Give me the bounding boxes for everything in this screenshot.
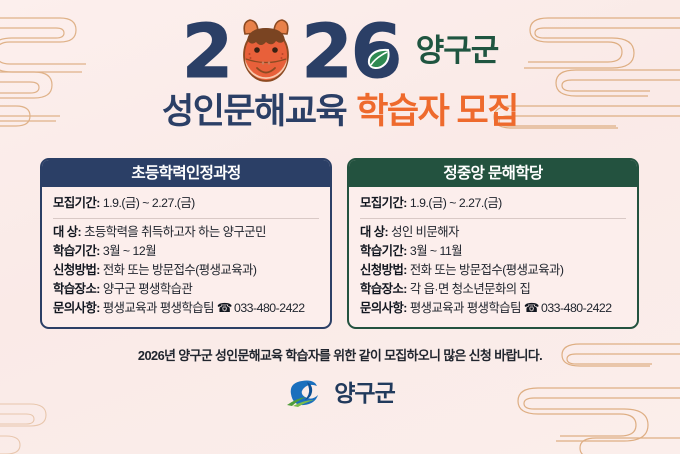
telephone-icon: ☎	[524, 299, 539, 318]
row-study-period: 학습기간: 3월 ~ 12월	[53, 242, 319, 261]
row-application-method: 신청방법: 전화 또는 방문접수(평생교육과)	[360, 261, 626, 280]
row-label: 학습장소:	[53, 280, 100, 299]
row-value: 1.9.(금) ~ 2.27.(금)	[410, 194, 502, 213]
row-target-audience: 대 상: 초등학력을 취득하고자 하는 양구군민	[53, 223, 319, 242]
yanggu-county-emblem-icon	[285, 378, 329, 408]
poster-canvas: 2	[0, 0, 680, 454]
row-inquiry: 문의사항: 평생교육과 평생학습팀 ☎ 033-480-2422	[53, 299, 319, 318]
row-recruitment-period: 모집기간: 1.9.(금) ~ 2.27.(금)	[53, 194, 319, 216]
row-value: 양구군 평생학습관	[103, 280, 192, 299]
leaf-icon	[367, 48, 391, 70]
title-accent-text: 학습자 모집	[356, 92, 518, 131]
year-digit-6-wrapper: 6	[351, 16, 407, 88]
row-study-location: 학습장소: 각 읍·면 청소년문화의 집	[360, 280, 626, 299]
telephone-icon: ☎	[217, 299, 232, 318]
row-label: 대 상:	[360, 223, 388, 242]
row-label: 문의사항:	[53, 299, 100, 318]
row-application-method: 신청방법: 전화 또는 방문접수(평생교육과)	[53, 261, 319, 280]
panel-divider	[360, 218, 626, 219]
row-label: 학습기간:	[53, 242, 100, 261]
row-value: 전화 또는 방문접수(평생교육과)	[410, 261, 564, 280]
panel-elementary-course: 초등학력인정과정 모집기간: 1.9.(금) ~ 2.27.(금) 대 상: 초…	[40, 158, 332, 329]
row-label: 학습기간:	[360, 242, 407, 261]
row-value: 초등학력을 취득하고자 하는 양구군민	[84, 223, 266, 242]
row-label: 신청방법:	[53, 261, 100, 280]
row-phone-number: 033-480-2422	[541, 299, 612, 318]
row-value: 3월 ~ 11월	[410, 242, 462, 261]
row-inquiry: 문의사항: 평생교육과 평생학습팀 ☎ 033-480-2422	[360, 299, 626, 318]
program-panels: 초등학력인정과정 모집기간: 1.9.(금) ~ 2.27.(금) 대 상: 초…	[40, 158, 640, 329]
row-phone-number: 033-480-2422	[234, 299, 305, 318]
panel-body-literacy-school: 모집기간: 1.9.(금) ~ 2.27.(금) 대 상: 성인 비문해자 학습…	[349, 187, 637, 327]
poster-title: 성인문해교육학습자 모집	[0, 92, 680, 132]
yanggu-county-logo: 양구군	[0, 378, 680, 408]
row-label: 신청방법:	[360, 261, 407, 280]
panel-literacy-school: 정중앙 문해학당 모집기간: 1.9.(금) ~ 2.27.(금) 대 상: 성…	[347, 158, 639, 329]
panel-header-literacy-school: 정중앙 문해학당	[349, 160, 637, 187]
panel-header-elementary-course: 초등학력인정과정	[42, 160, 330, 187]
row-value: 3월 ~ 12월	[103, 242, 156, 261]
row-value: 성인 비문해자	[391, 223, 459, 242]
row-recruitment-period: 모집기간: 1.9.(금) ~ 2.27.(금)	[360, 194, 626, 216]
row-study-period: 학습기간: 3월 ~ 11월	[360, 242, 626, 261]
year-digit-2-second: 2	[301, 15, 351, 89]
row-target-audience: 대 상: 성인 비문해자	[360, 223, 626, 242]
horse-mascot-icon	[235, 18, 297, 86]
year-digit-2-first: 2	[182, 15, 232, 89]
footer-note: 2026년 양구군 성인문해교육 학습자를 위한 같이 모집하오니 많은 신청 …	[0, 345, 680, 364]
row-label: 대 상:	[53, 223, 81, 242]
row-value: 평생교육과 평생학습팀	[103, 299, 214, 318]
panel-divider	[53, 218, 319, 219]
title-main-text: 성인문해교육	[162, 92, 346, 131]
row-label: 모집기간:	[53, 194, 100, 213]
row-value: 1.9.(금) ~ 2.27.(금)	[103, 194, 195, 213]
panel-body-elementary-course: 모집기간: 1.9.(금) ~ 2.27.(금) 대 상: 초등학력을 취득하고…	[42, 187, 330, 327]
poster-header: 2	[0, 16, 680, 132]
row-value: 평생교육과 평생학습팀	[410, 299, 521, 318]
row-label: 모집기간:	[360, 194, 407, 213]
row-study-location: 학습장소: 양구군 평생학습관	[53, 280, 319, 299]
row-label: 학습장소:	[360, 280, 407, 299]
row-label: 문의사항:	[360, 299, 407, 318]
year-logo: 2	[0, 16, 680, 88]
row-value: 각 읍·면 청소년문화의 집	[410, 280, 530, 299]
logo-text: 양구군	[334, 382, 394, 405]
county-name-label: 양구군	[416, 35, 499, 70]
row-value: 전화 또는 방문접수(평생교육과)	[103, 261, 257, 280]
